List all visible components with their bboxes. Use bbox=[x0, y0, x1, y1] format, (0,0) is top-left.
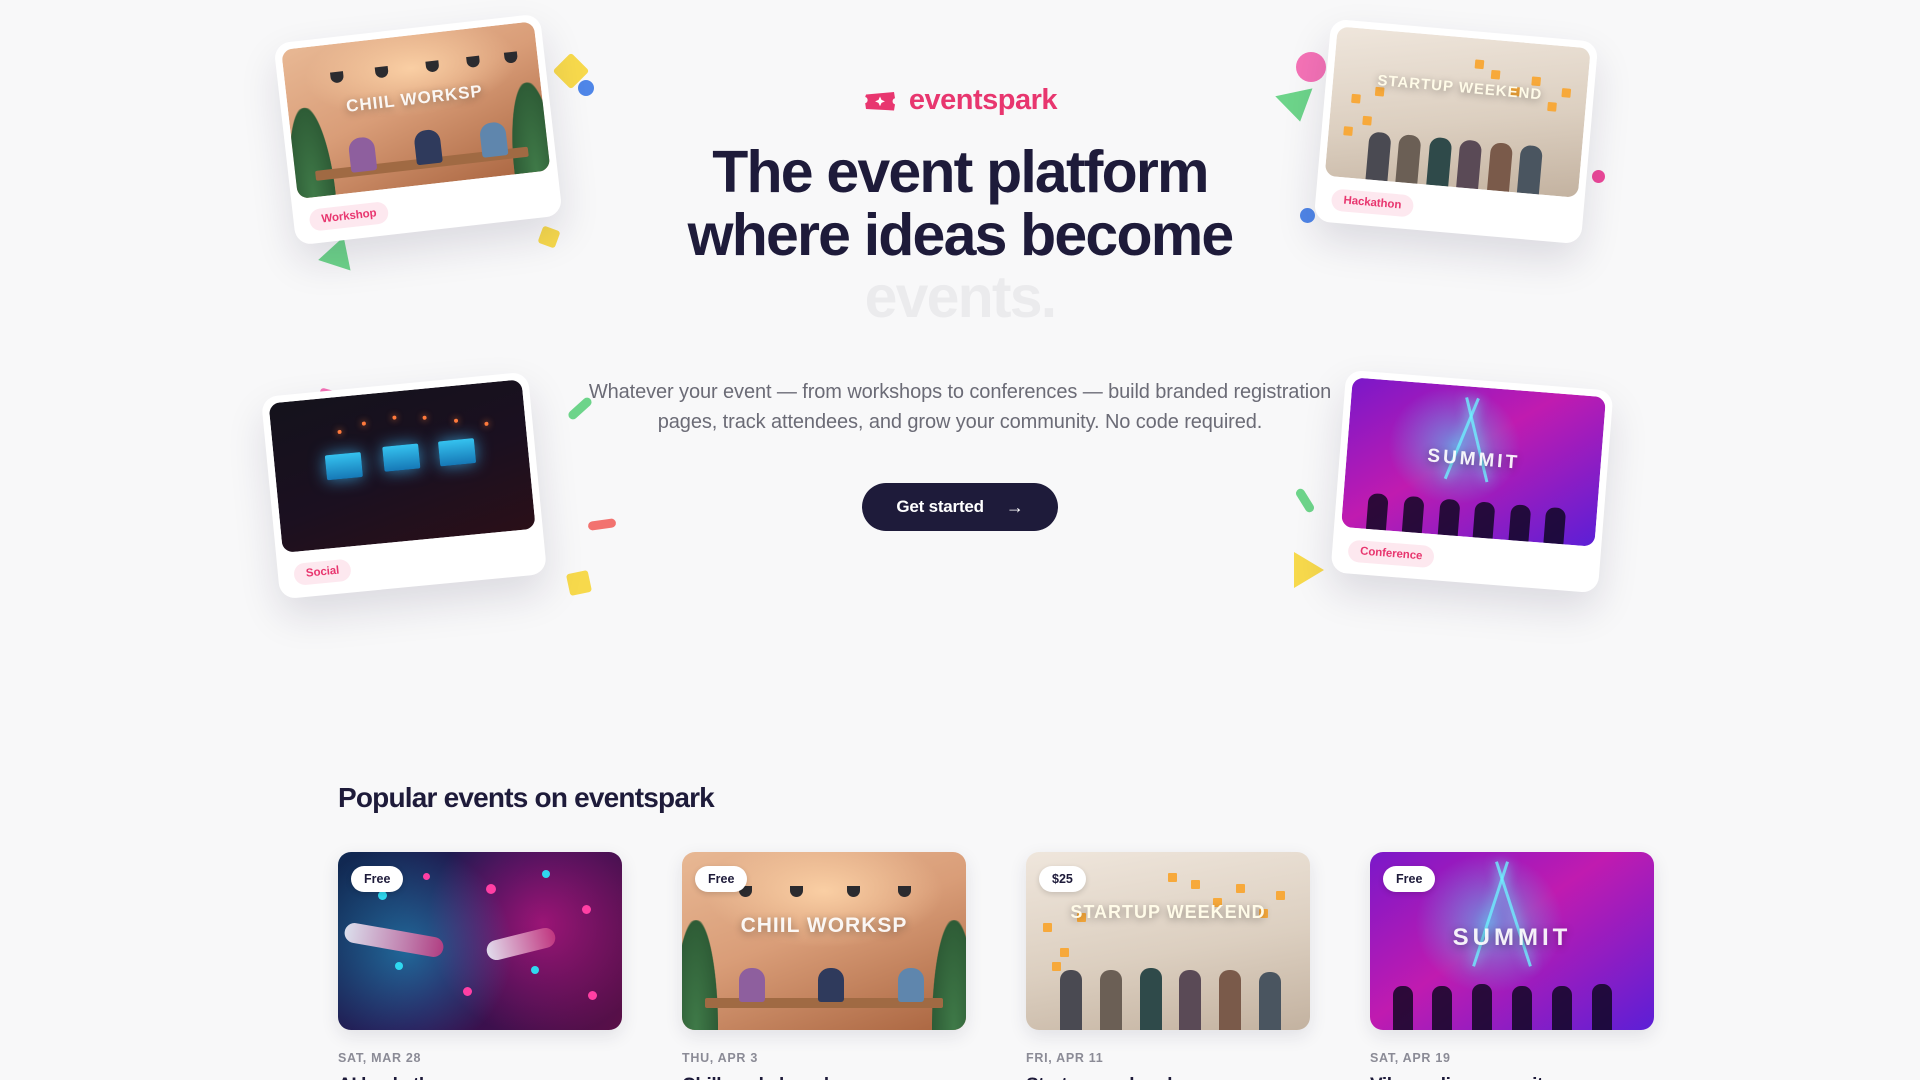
artwork-caption: CHIIL WORKSP bbox=[287, 75, 542, 124]
event-title: AI hackathon bbox=[338, 1074, 622, 1080]
deco-pink-dot-card bbox=[1592, 170, 1605, 183]
artwork-caption: SUMMIT bbox=[1370, 924, 1654, 952]
floating-card-thumb: SUMMIT bbox=[1341, 377, 1606, 546]
floating-card-hackathon[interactable]: STARTUP WEEKEND Hackathon bbox=[1314, 19, 1599, 245]
event-thumbnail: Free SUMMIT bbox=[1370, 852, 1654, 1030]
page-title: The event platform where ideas become ev… bbox=[570, 141, 1350, 329]
deco-yellow-play-triangle bbox=[1294, 552, 1324, 588]
hero-content: eventspark The event platform where idea… bbox=[570, 86, 1350, 531]
floating-card-conference[interactable]: SUMMIT Conference bbox=[1330, 370, 1613, 593]
deco-magenta-circle bbox=[1296, 52, 1326, 82]
events-grid: Free SAT, MAR 28 AI hackathon bbox=[338, 852, 1654, 1080]
event-card[interactable]: Free SUMMIT SAT, APR 19 Vibe coding summ… bbox=[1370, 852, 1654, 1080]
social-artwork bbox=[269, 379, 536, 553]
floating-card-social[interactable]: Social bbox=[261, 372, 547, 600]
floating-card-thumb: STARTUP WEEKEND bbox=[1325, 26, 1591, 198]
event-date: THU, APR 3 bbox=[682, 1051, 966, 1065]
event-card[interactable]: $25 STARTUP WEEKEND FRI, APR 11 bbox=[1026, 852, 1310, 1080]
conference-artwork: SUMMIT bbox=[1341, 377, 1606, 546]
headline-line-3: events. bbox=[570, 266, 1350, 329]
event-thumbnail: Free bbox=[338, 852, 622, 1030]
brand-name: eventspark bbox=[909, 86, 1057, 115]
floating-card-thumb bbox=[269, 379, 536, 553]
event-card[interactable]: Free SAT, MAR 28 AI hackathon bbox=[338, 852, 622, 1080]
get-started-button[interactable]: Get started → bbox=[862, 483, 1057, 531]
event-date: SAT, MAR 28 bbox=[338, 1051, 622, 1065]
ticket-icon bbox=[863, 89, 897, 113]
price-badge: Free bbox=[351, 866, 403, 892]
floating-card-workshop[interactable]: CHIIL WORKSP Workshop bbox=[273, 13, 562, 245]
category-badge: Social bbox=[293, 559, 352, 586]
section-title: Popular events on eventspark bbox=[338, 782, 714, 814]
headline-line-1: The event platform bbox=[570, 141, 1350, 204]
hero-section: CHIIL WORKSP Workshop STARTUP WEEKEND bbox=[0, 0, 1920, 720]
artwork-caption: STARTUP WEEKEND bbox=[1026, 902, 1310, 923]
get-started-label: Get started bbox=[896, 497, 984, 517]
event-thumbnail: Free CHIIL WORKSP bbox=[682, 852, 966, 1030]
artwork-caption: SUMMIT bbox=[1346, 439, 1601, 481]
hackathon-artwork: STARTUP WEEKEND bbox=[1325, 26, 1591, 198]
event-title: Vibe coding summit bbox=[1370, 1074, 1654, 1080]
brand-lockup: eventspark bbox=[570, 86, 1350, 115]
category-badge: Workshop bbox=[308, 201, 389, 232]
event-thumbnail: $25 STARTUP WEEKEND bbox=[1026, 852, 1310, 1030]
artwork-caption: STARTUP WEEKEND bbox=[1333, 68, 1588, 107]
category-badge: Conference bbox=[1347, 540, 1435, 569]
deco-yellow-square-lower bbox=[566, 570, 592, 596]
workshop-artwork: CHIIL WORKSP bbox=[281, 21, 550, 199]
event-date: SAT, APR 19 bbox=[1370, 1051, 1654, 1065]
event-date: FRI, APR 11 bbox=[1026, 1051, 1310, 1065]
artwork-caption: CHIIL WORKSP bbox=[682, 914, 966, 938]
event-title: Chill workshop day bbox=[682, 1074, 966, 1080]
deco-yellow-square-left bbox=[537, 225, 560, 248]
hero-subtitle: Whatever your event — from workshops to … bbox=[570, 377, 1350, 437]
floating-card-thumb: CHIIL WORKSP bbox=[281, 21, 550, 199]
event-title: Startup weekend bbox=[1026, 1074, 1310, 1080]
arrow-right-icon: → bbox=[1006, 498, 1024, 516]
price-badge: Free bbox=[695, 866, 747, 892]
headline-line-2: where ideas become bbox=[570, 204, 1350, 267]
price-badge: $25 bbox=[1039, 866, 1086, 892]
event-card[interactable]: Free CHIIL WORKSP THU, APR 3 Chill works… bbox=[682, 852, 966, 1080]
price-badge: Free bbox=[1383, 866, 1435, 892]
